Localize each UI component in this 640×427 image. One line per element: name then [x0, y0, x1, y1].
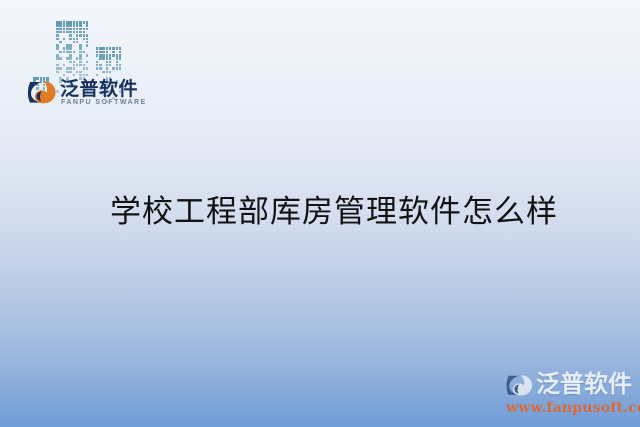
banner-canvas: 泛普软件 FANPU SOFTWARE 学校工程部库房管理软件怎么样 泛普软件 …	[0, 0, 640, 427]
fanpu-swoosh-logo-icon	[27, 79, 57, 106]
watermark-url: www.fanpusoft.com	[506, 400, 640, 416]
watermark: 泛普软件 www.fanpusoft.com	[505, 371, 635, 417]
page-title: 学校工程部库房管理软件怎么样	[110, 192, 558, 232]
brand-name-cn: 泛普软件	[60, 78, 138, 100]
fanpu-swoosh-logo-icon	[505, 373, 534, 398]
brand-logo-lockup: 泛普软件 FANPU SOFTWARE	[27, 78, 131, 111]
watermark-brand-name: 泛普软件	[536, 370, 632, 399]
brand-name-en: FANPU SOFTWARE	[61, 99, 147, 106]
pixel-skyline-graphic	[33, 21, 125, 83]
